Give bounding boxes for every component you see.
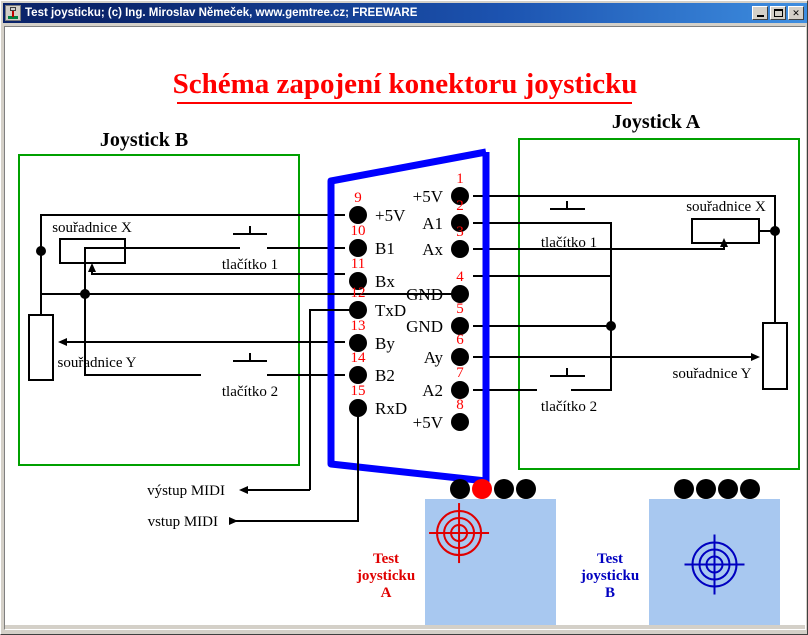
pin-number: 12 xyxy=(351,285,366,301)
connector-pin-dot xyxy=(451,413,469,431)
b-button2-label: tlačítko 2 xyxy=(222,384,278,400)
pin-label: A2 xyxy=(422,381,443,400)
junction-dot xyxy=(36,246,46,256)
pin-number: 11 xyxy=(351,256,365,272)
application-window: Test joysticku; (c) Ing. Miroslav Němeče… xyxy=(0,0,808,635)
pin-number: 10 xyxy=(351,223,366,239)
pin-label: Ax xyxy=(422,240,443,259)
a-coord-x-label: souřadnice X xyxy=(686,199,766,215)
pin-label: A1 xyxy=(422,214,443,233)
connector-pin-dot xyxy=(349,239,367,257)
pin-label: GND xyxy=(406,285,443,304)
test-a-pad[interactable] xyxy=(425,499,556,629)
pin-label: B2 xyxy=(375,366,395,385)
test-button[interactable] xyxy=(696,479,716,499)
pin-label: Ay xyxy=(424,348,444,367)
test-panel-b[interactable]: Test joysticku B X = 0 Z = 0 Y = 0 xyxy=(580,479,780,629)
pin-label: By xyxy=(375,334,395,353)
test-b-title-line-2: joysticku xyxy=(580,568,639,584)
test-a-title-line-2: joysticku xyxy=(356,568,415,584)
test-a-title-line-1: Test xyxy=(373,551,399,567)
connector-pin-dot xyxy=(451,240,469,258)
pin-number: 5 xyxy=(456,301,464,317)
pin-number: 3 xyxy=(456,224,464,240)
window-title: Test joysticku; (c) Ing. Miroslav Němeče… xyxy=(25,7,417,19)
test-a-buttons[interactable] xyxy=(450,479,536,499)
midi-out-label: výstup MIDI xyxy=(147,483,225,499)
b-coord-x-label: souřadnice X xyxy=(52,220,132,236)
connector-pin-dot xyxy=(349,366,367,384)
test-button[interactable] xyxy=(516,479,536,499)
a-button1-label: tlačítko 1 xyxy=(541,235,597,251)
b-coord-y-label: souřadnice Y xyxy=(58,355,137,371)
page-title: Schéma zapojení konektoru joysticku xyxy=(173,68,638,100)
pin-label: +5V xyxy=(413,413,444,432)
test-button[interactable] xyxy=(740,479,760,499)
test-b-buttons[interactable] xyxy=(674,479,760,499)
close-button[interactable]: ✕ xyxy=(788,6,804,20)
close-icon: ✕ xyxy=(792,9,800,18)
pin-label: TxD xyxy=(375,301,406,320)
pin-number: 13 xyxy=(351,318,366,334)
test-button[interactable] xyxy=(450,479,470,499)
joystick-a-box xyxy=(519,139,799,469)
test-a-title-line-3: A xyxy=(381,585,392,601)
pin-label: +5V xyxy=(375,206,406,225)
connector-pin-dot xyxy=(349,206,367,224)
test-panel-a[interactable]: Test joysticku A X = -0.475 Z = 0.133 Y … xyxy=(356,479,556,629)
status-strip xyxy=(5,625,805,629)
test-b-title-line-1: Test xyxy=(597,551,623,567)
joystick-b-box xyxy=(19,155,299,465)
pin-label: +5V xyxy=(413,187,444,206)
maximize-button[interactable] xyxy=(770,6,786,20)
pin-label: Bx xyxy=(375,272,395,291)
pin-label: GND xyxy=(406,317,443,336)
pin-number: 15 xyxy=(351,383,366,399)
joystick-a-wiring xyxy=(473,196,787,390)
connector-pin-dot xyxy=(349,399,367,417)
minimize-button[interactable] xyxy=(752,6,768,20)
a-button2-label: tlačítko 2 xyxy=(541,399,597,415)
pin-number: 9 xyxy=(354,190,362,206)
connector-pin-dot xyxy=(451,348,469,366)
pin-label: B1 xyxy=(375,239,395,258)
a-coord-y-label: souřadnice Y xyxy=(673,366,752,382)
test-button[interactable] xyxy=(674,479,694,499)
pin-number: 8 xyxy=(456,397,464,413)
pin-number: 14 xyxy=(351,350,367,366)
junction-dot xyxy=(606,321,616,331)
pin-number: 6 xyxy=(456,332,464,348)
pin-number: 4 xyxy=(456,269,464,285)
joystick-icon[interactable] xyxy=(5,5,21,21)
pin-number: 7 xyxy=(456,365,464,381)
wiring-diagram: Schéma zapojení konektoru joysticku Joys… xyxy=(5,27,805,629)
b-button1-label: tlačítko 1 xyxy=(222,257,278,273)
test-button[interactable] xyxy=(494,479,514,499)
joystick-a-heading: Joystick A xyxy=(612,111,701,133)
client-area: Schéma zapojení konektoru joysticku Joys… xyxy=(4,26,806,630)
connector-pin-dot xyxy=(349,301,367,319)
test-button[interactable] xyxy=(472,479,492,499)
test-b-title-line-3: B xyxy=(605,585,615,601)
connector-right-pins: +5V1A12Ax3GND4GND5Ay6A27+5V8 xyxy=(406,171,469,432)
window-titlebar[interactable]: Test joysticku; (c) Ing. Miroslav Němeče… xyxy=(3,3,807,23)
window-buttons: ✕ xyxy=(752,6,807,20)
test-button[interactable] xyxy=(718,479,738,499)
junction-dot xyxy=(770,226,780,236)
pin-label: RxD xyxy=(375,399,407,418)
midi-in-label: vstup MIDI xyxy=(148,514,218,530)
joystick-b-heading: Joystick B xyxy=(100,129,188,151)
pin-number: 1 xyxy=(456,171,464,187)
pin-number: 2 xyxy=(456,198,464,214)
connector-left-pins: +5V9B110Bx11TxD12By13B214RxD15 xyxy=(349,190,407,418)
